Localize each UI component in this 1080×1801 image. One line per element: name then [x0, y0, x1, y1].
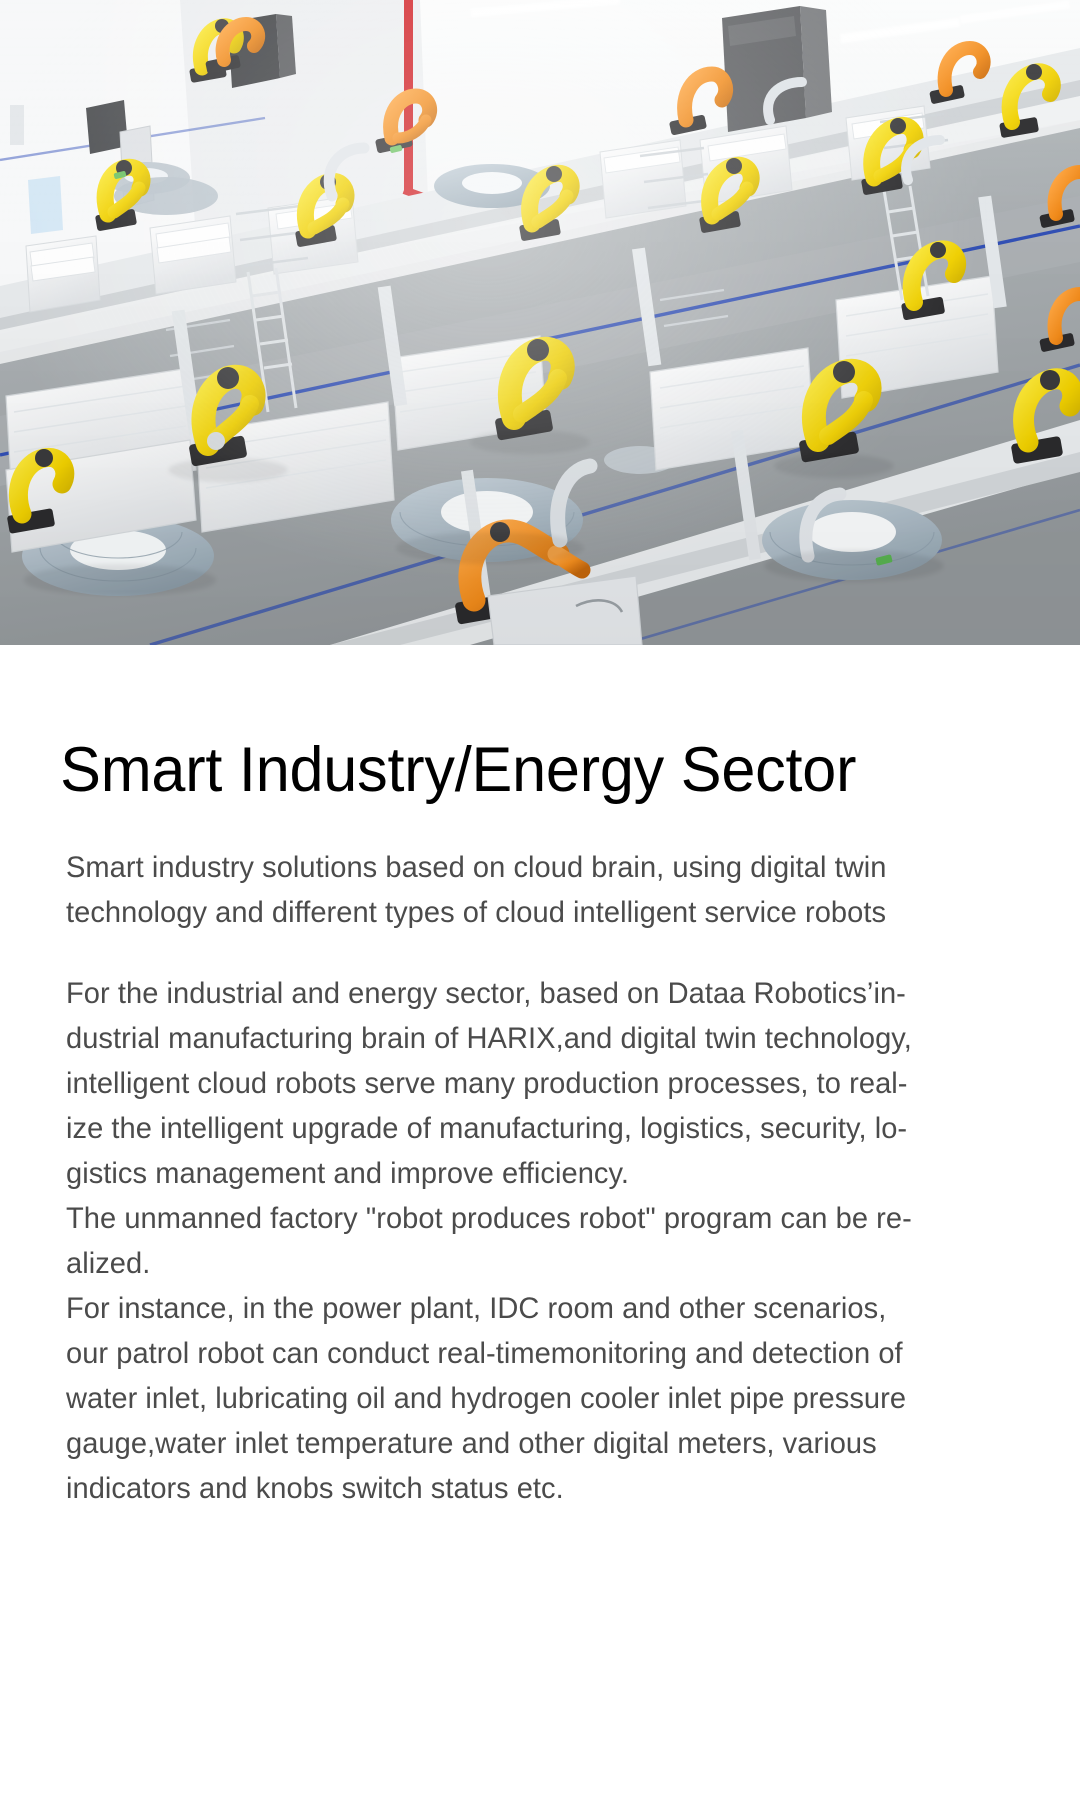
- text-line: technology and different types of cloud …: [66, 890, 1016, 935]
- paragraph-detail: For the industrial and energy sector, ba…: [66, 971, 1016, 1511]
- wall-sign-left: [28, 176, 63, 234]
- text-line: intelligent cloud robots serve many prod…: [66, 1061, 1016, 1106]
- page-content: Smart Industry/Energy Sector Smart indus…: [0, 645, 1080, 1801]
- machine-cabinet-center: [722, 6, 832, 132]
- text-line: For instance, in the power plant, IDC ro…: [66, 1286, 1016, 1331]
- page-title: Smart Industry/Energy Sector: [0, 737, 1048, 803]
- text-line: The unmanned factory "robot produces rob…: [66, 1196, 1016, 1241]
- text-line: gauge,water inlet temperature and other …: [66, 1421, 1016, 1466]
- wall-fixture: [10, 105, 24, 145]
- paragraph-intro: Smart industry solutions based on cloud …: [66, 845, 1016, 935]
- text-line: dustrial manufacturing brain of HARIX,an…: [66, 1016, 1016, 1061]
- text-line: Smart industry solutions based on cloud …: [66, 845, 1016, 890]
- text-line: alized.: [66, 1241, 1016, 1286]
- factory-scene-illustration: [0, 0, 1080, 645]
- text-line: gistics management and improve efficienc…: [66, 1151, 1016, 1196]
- text-line: For the industrial and energy sector, ba…: [66, 971, 1016, 1016]
- factory-scene-svg: [0, 0, 1080, 645]
- body-text-block: Smart industry solutions based on cloud …: [0, 845, 1080, 1511]
- text-line: our patrol robot can conduct real-timemo…: [66, 1331, 1016, 1376]
- text-line: water inlet, lubricating oil and hydroge…: [66, 1376, 1016, 1421]
- hero-image: [0, 0, 1080, 645]
- text-line: indicators and knobs switch status etc.: [66, 1466, 1016, 1511]
- page-bottom-spacer: [0, 1511, 1080, 1801]
- text-line: ize the intelligent upgrade of manufactu…: [66, 1106, 1016, 1151]
